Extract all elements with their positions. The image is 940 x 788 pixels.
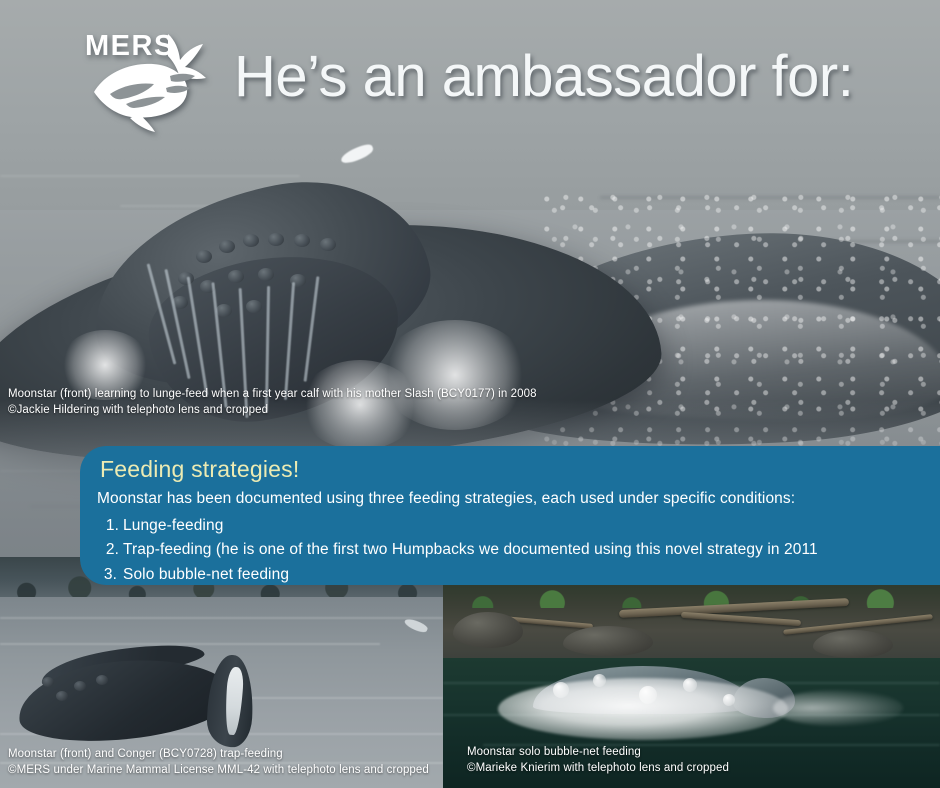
caption-line: Moonstar solo bubble-net feeding	[467, 744, 729, 760]
tubercle	[294, 234, 310, 247]
humpback-whale-icon	[82, 28, 218, 132]
caption-bottom-right-photo: Moonstar solo bubble-net feeding ©Mariek…	[467, 744, 729, 777]
list-item-label: Solo bubble-net feeding	[123, 563, 289, 585]
bubble	[553, 682, 569, 698]
list-item: 2. Trap-feeding (he is one of the first …	[97, 538, 940, 562]
caption-line: Moonstar (front) learning to lunge-feed …	[8, 386, 537, 402]
list-item: 1. Lunge-feeding	[97, 514, 940, 538]
tubercle	[243, 234, 259, 247]
panel-intro-text: Moonstar has been documented using three…	[97, 490, 795, 508]
caption-bottom-left-photo: Moonstar (front) and Conger (BCY0728) tr…	[8, 746, 429, 779]
caption-line: ©Marieke Knierim with telephoto lens and…	[467, 760, 729, 776]
caption-line: ©MERS under Marine Mammal License MML-42…	[8, 762, 429, 778]
water-spray	[773, 690, 903, 726]
list-item-number: 3.	[97, 563, 123, 585]
tubercle	[56, 691, 68, 701]
tubercle	[258, 268, 274, 281]
water-ripple	[0, 643, 380, 645]
list-item-label: Lunge-feeding	[123, 514, 223, 538]
tubercle	[96, 675, 108, 685]
tubercle	[216, 304, 232, 317]
panel-title: Feeding strategies!	[100, 456, 299, 483]
tubercle	[228, 270, 244, 283]
list-item-number: 1.	[97, 514, 123, 538]
bubble	[723, 694, 735, 706]
caption-line: Moonstar (front) and Conger (BCY0728) tr…	[8, 746, 429, 762]
list-item: 3. Solo bubble-net feeding	[97, 563, 940, 585]
water-ripple	[0, 617, 443, 619]
shore-rock	[453, 612, 523, 648]
caption-line: ©Jackie Hildering with telephoto lens an…	[8, 402, 537, 418]
shore-rock	[563, 626, 653, 656]
tubercle	[42, 677, 54, 687]
tubercle	[219, 240, 235, 253]
shore-foliage	[443, 582, 940, 608]
tubercle	[268, 233, 284, 246]
page-title: He’s an ambassador for:	[234, 48, 853, 106]
tubercle	[74, 681, 86, 691]
water-streak	[0, 175, 300, 177]
mers-logo[interactable]: MERS	[82, 28, 218, 132]
feeding-strategy-list: 1. Lunge-feeding 2. Trap-feeding (he is …	[97, 514, 940, 585]
tubercle	[196, 250, 212, 263]
bubble	[639, 686, 657, 704]
caption-top-photo: Moonstar (front) learning to lunge-feed …	[8, 386, 537, 419]
bubble	[593, 674, 606, 687]
list-item-number: 2.	[97, 538, 123, 562]
poster-canvas: MERS	[0, 0, 940, 788]
header: MERS	[0, 0, 940, 160]
tubercle	[246, 300, 262, 313]
list-item-label: Trap-feeding (he is one of the first two…	[123, 538, 818, 562]
shore-rock	[813, 630, 893, 658]
feeding-strategies-panel: Feeding strategies! Moonstar has been do…	[80, 446, 940, 585]
tubercle	[320, 238, 336, 251]
bubble	[683, 678, 697, 692]
